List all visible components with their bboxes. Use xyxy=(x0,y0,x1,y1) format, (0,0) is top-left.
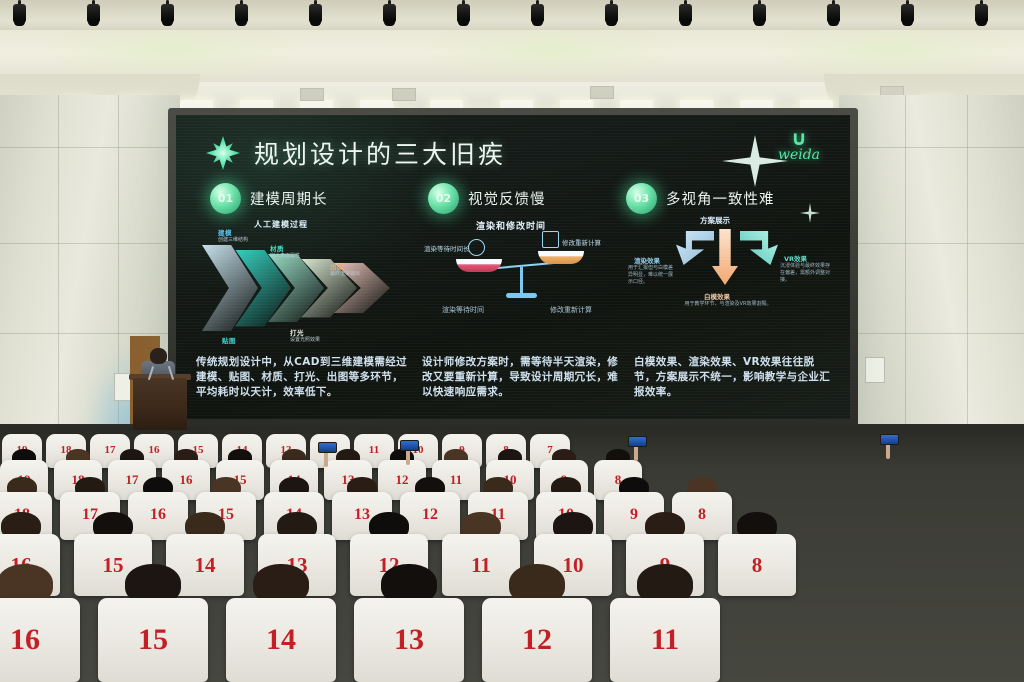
seat[interactable]: 8 xyxy=(718,534,796,596)
seat[interactable]: 11 xyxy=(610,598,720,682)
ceiling-vent xyxy=(392,88,416,101)
seat-number: 16 xyxy=(0,623,80,657)
balance-left-caption: 渲染等待时间 xyxy=(442,305,484,315)
badge-item-02: 02 视觉反馈慢 xyxy=(428,183,626,214)
seat-number: 13 xyxy=(354,623,464,657)
seat[interactable]: 13 xyxy=(354,598,464,682)
raised-arm xyxy=(886,443,890,459)
spotlight xyxy=(160,0,175,30)
paragraph-modeling: 传统规划设计中，从CAD到三维建模需经过建模、贴图、材质、打光、出图等多环节，平… xyxy=(196,355,408,400)
badge-label: 多视角一致性难 xyxy=(666,188,775,209)
page-title: 规划设计的三大旧疾 xyxy=(254,135,506,171)
spotlight xyxy=(86,0,101,30)
spotlight xyxy=(530,0,545,30)
raised-arm xyxy=(406,449,410,465)
lighting-truss xyxy=(0,0,1024,30)
audience-seating: 1918171615141312111098719181716151413121… xyxy=(0,430,1024,682)
speaker-head xyxy=(150,348,167,364)
arrow-bottom-label: 白模效果 xyxy=(704,291,730,301)
badge-row: 01 建模周期长 02 视觉反馈慢 03 多视角一致性难 xyxy=(210,183,820,214)
smartphone-recording xyxy=(880,434,899,445)
paragraph-row: 传统规划设计中，从CAD到三维建模需经过建模、贴图、材质、打光、出图等多环节，平… xyxy=(196,355,834,400)
step-sub-5: 最终渲染输出 xyxy=(330,270,360,277)
arrow-right-sub: 沉浸体验与最终效果存在偏差，需额外调整对接。 xyxy=(780,263,830,284)
diagram-consistency-arrows: 方案展示 渲染效果 用于汇报但与白模差异明显，难以统一展示口径。 VR效果 沉浸… xyxy=(628,215,834,347)
raised-arm xyxy=(324,451,328,467)
badge-number: 01 xyxy=(218,192,233,205)
balance-pan-left xyxy=(456,259,502,272)
seat[interactable]: 12 xyxy=(400,492,460,540)
clock-icon xyxy=(468,239,485,256)
badge-item-01: 01 建模周期长 xyxy=(210,183,428,214)
balance-right-tag: 修改重新计算 xyxy=(562,237,601,247)
arrow-top-label: 方案展示 xyxy=(700,215,730,226)
badge-number-circle: 03 xyxy=(626,183,657,214)
spotlight xyxy=(12,0,27,30)
seat-number: 16 xyxy=(128,506,188,524)
seat[interactable]: 15 xyxy=(98,598,208,682)
raised-arm xyxy=(634,445,638,461)
arrow-right-label: VR效果 xyxy=(784,253,807,263)
badge-number-circle: 01 xyxy=(210,183,241,214)
smartphone-recording xyxy=(400,440,419,451)
seat-number: 15 xyxy=(98,623,208,657)
ceiling-vent xyxy=(590,86,614,99)
arrow-right-icon xyxy=(740,231,778,265)
wall-right xyxy=(839,95,1024,455)
spotlight xyxy=(752,0,767,30)
seat[interactable]: 12 xyxy=(482,598,592,682)
spotlight xyxy=(234,0,249,30)
auditorium-scene: 规划设计的三大旧疾 ∪ weida 01 建模周期长 02 视觉反馈慢 xyxy=(0,0,1024,682)
brand-logo: ∪ weida xyxy=(766,129,832,169)
step-sub-1: 创建三维结构 xyxy=(218,236,248,243)
balance-right-caption: 修改重新计算 xyxy=(550,305,592,315)
slide-content: 规划设计的三大旧疾 ∪ weida 01 建模周期长 02 视觉反馈慢 xyxy=(176,115,850,419)
arrow-left-sub: 用于汇报但与白模差异明显，难以统一展示口径。 xyxy=(628,265,674,286)
arrow-left-icon xyxy=(676,231,714,265)
ceiling-vent xyxy=(300,88,324,101)
step-sub-4: 设置光照效果 xyxy=(290,336,320,343)
seat[interactable]: 16 xyxy=(128,492,188,540)
badge-label: 视觉反馈慢 xyxy=(468,188,546,209)
spotlight xyxy=(900,0,915,30)
paragraph-render: 设计师修改方案时，需等待半天渲染，修改又要重新计算，导致设计周期冗长，难以快速响… xyxy=(422,355,620,400)
seat-number: 11 xyxy=(354,444,394,456)
podium: ✓ xyxy=(133,378,187,432)
badge-number-circle: 02 xyxy=(428,183,459,214)
arrow-left-label: 渲染效果 xyxy=(634,255,660,265)
balance-pan-right xyxy=(538,251,584,264)
arrow-down-icon xyxy=(712,229,738,285)
seat-number: 12 xyxy=(400,506,460,524)
paragraph-consistency: 白模效果、渲染效果、VR效果往往脱节，方案展示不统一，影响教学与企业汇报效率。 xyxy=(634,355,834,400)
balance-left-tag: 渲染等待时间长 xyxy=(424,243,470,253)
badge-item-03: 03 多视角一致性难 xyxy=(626,183,816,214)
seat-number: 14 xyxy=(226,623,336,657)
badge-number: 03 xyxy=(634,192,649,205)
diagram-render-balance: 渲染和修改时间 渲染等待时间长 修改重新计算 渲染等待时间 修改重新计算 xyxy=(424,219,624,347)
diagram-modeling-process: 人工建模过程 建模 创建三维结构 材质 定义表面属性 出图 最终渲染输出 贴图 … xyxy=(194,219,412,347)
seat[interactable]: 14 xyxy=(226,598,336,682)
seat-number: 8 xyxy=(718,553,796,578)
chevron-chain xyxy=(202,245,402,331)
brand-name: weida xyxy=(766,148,832,163)
spotlight xyxy=(308,0,323,30)
badge-label: 建模周期长 xyxy=(250,188,328,209)
balance-base xyxy=(506,293,537,298)
seat[interactable]: 16 xyxy=(0,598,80,682)
diagram-title: 人工建模过程 xyxy=(254,219,308,230)
spotlight xyxy=(678,0,693,30)
step-label-2: 贴图 xyxy=(222,335,236,345)
seat-number: 12 xyxy=(482,623,592,657)
seat-number: 11 xyxy=(442,553,520,578)
diagram-title: 渲染和修改时间 xyxy=(476,219,546,232)
smartphone-recording xyxy=(628,436,647,447)
seat-number: 11 xyxy=(610,623,720,657)
spotlight xyxy=(604,0,619,30)
step-sub-3: 定义表面属性 xyxy=(270,252,300,259)
document-icon xyxy=(542,231,559,248)
smartphone-recording xyxy=(318,442,337,453)
spotlight xyxy=(382,0,397,30)
presentation-screen: 规划设计的三大旧疾 ∪ weida 01 建模周期长 02 视觉反馈慢 xyxy=(168,108,858,426)
balance-stand xyxy=(520,267,523,295)
brand-mark-icon: ∪ xyxy=(766,129,832,148)
spotlight xyxy=(456,0,471,30)
sparkle-logo-icon xyxy=(206,136,240,170)
arrow-bottom-sub: 用于教学环节，与渲染及VR效果割裂。 xyxy=(682,301,774,308)
wall-panel xyxy=(865,357,885,383)
badge-number: 02 xyxy=(436,192,451,205)
slide-title-row: 规划设计的三大旧疾 xyxy=(206,135,506,171)
spotlight xyxy=(974,0,989,30)
spotlight xyxy=(826,0,841,30)
